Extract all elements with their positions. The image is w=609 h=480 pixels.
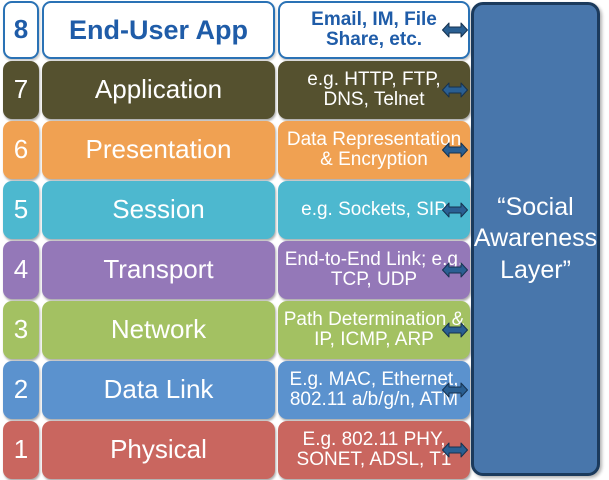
osi-layer-diagram: 8End-User AppEmail, IM, File Share, etc.… [0,0,609,480]
double-arrow-horizontal-icon [442,321,468,339]
double-arrow-horizontal-icon [442,21,468,39]
layer-stack: 8End-User AppEmail, IM, File Share, etc.… [0,0,470,480]
layer-number-box: 5 [3,181,39,239]
layer-number-box: 7 [3,61,39,119]
layer-row: 2Data LinkE.g. MAC, Ethernet, 802.11 a/b… [0,361,470,419]
layer-link-arrow-slot [440,121,470,179]
layer-link-arrow-slot [440,241,470,299]
social-awareness-layer-panel: “Social Awareness Layer” [471,2,600,476]
layer-row: 3NetworkPath Determination & IP, ICMP, A… [0,301,470,359]
layer-link-arrow-slot [440,1,470,59]
layer-row: 8End-User AppEmail, IM, File Share, etc. [0,1,470,59]
layer-row: 5Sessione.g. Sockets, SIP [0,181,470,239]
double-arrow-horizontal-icon [442,201,468,219]
double-arrow-horizontal-icon [442,261,468,279]
layer-row: 6PresentationData Representation & Encry… [0,121,470,179]
layer-link-arrow-slot [440,421,470,479]
layer-name-box: Transport [42,241,275,299]
layer-link-arrow-slot [440,301,470,359]
layer-name-box: Physical [42,421,275,479]
layer-number-box: 1 [3,421,39,479]
layer-link-arrow-slot [440,61,470,119]
layer-number-box: 8 [3,1,39,59]
double-arrow-horizontal-icon [442,81,468,99]
layer-name-box: Session [42,181,275,239]
layer-number-box: 3 [3,301,39,359]
layer-link-arrow-slot [440,181,470,239]
layer-number-box: 2 [3,361,39,419]
layer-name-box: Application [42,61,275,119]
layer-name-box: End-User App [42,1,275,59]
social-awareness-layer-label: “Social Awareness Layer” [468,192,603,286]
layer-number-box: 4 [3,241,39,299]
layer-row: 1PhysicalE.g. 802.11 PHY, SONET, ADSL, T… [0,421,470,479]
double-arrow-horizontal-icon [442,141,468,159]
layer-link-arrow-slot [440,361,470,419]
layer-row: 4TransportEnd-to-End Link; e.g. TCP, UDP [0,241,470,299]
layer-number-box: 6 [3,121,39,179]
layer-row: 7Applicatione.g. HTTP, FTP, DNS, Telnet [0,61,470,119]
layer-name-box: Presentation [42,121,275,179]
double-arrow-horizontal-icon [442,441,468,459]
double-arrow-horizontal-icon [442,381,468,399]
layer-name-box: Network [42,301,275,359]
layer-name-box: Data Link [42,361,275,419]
